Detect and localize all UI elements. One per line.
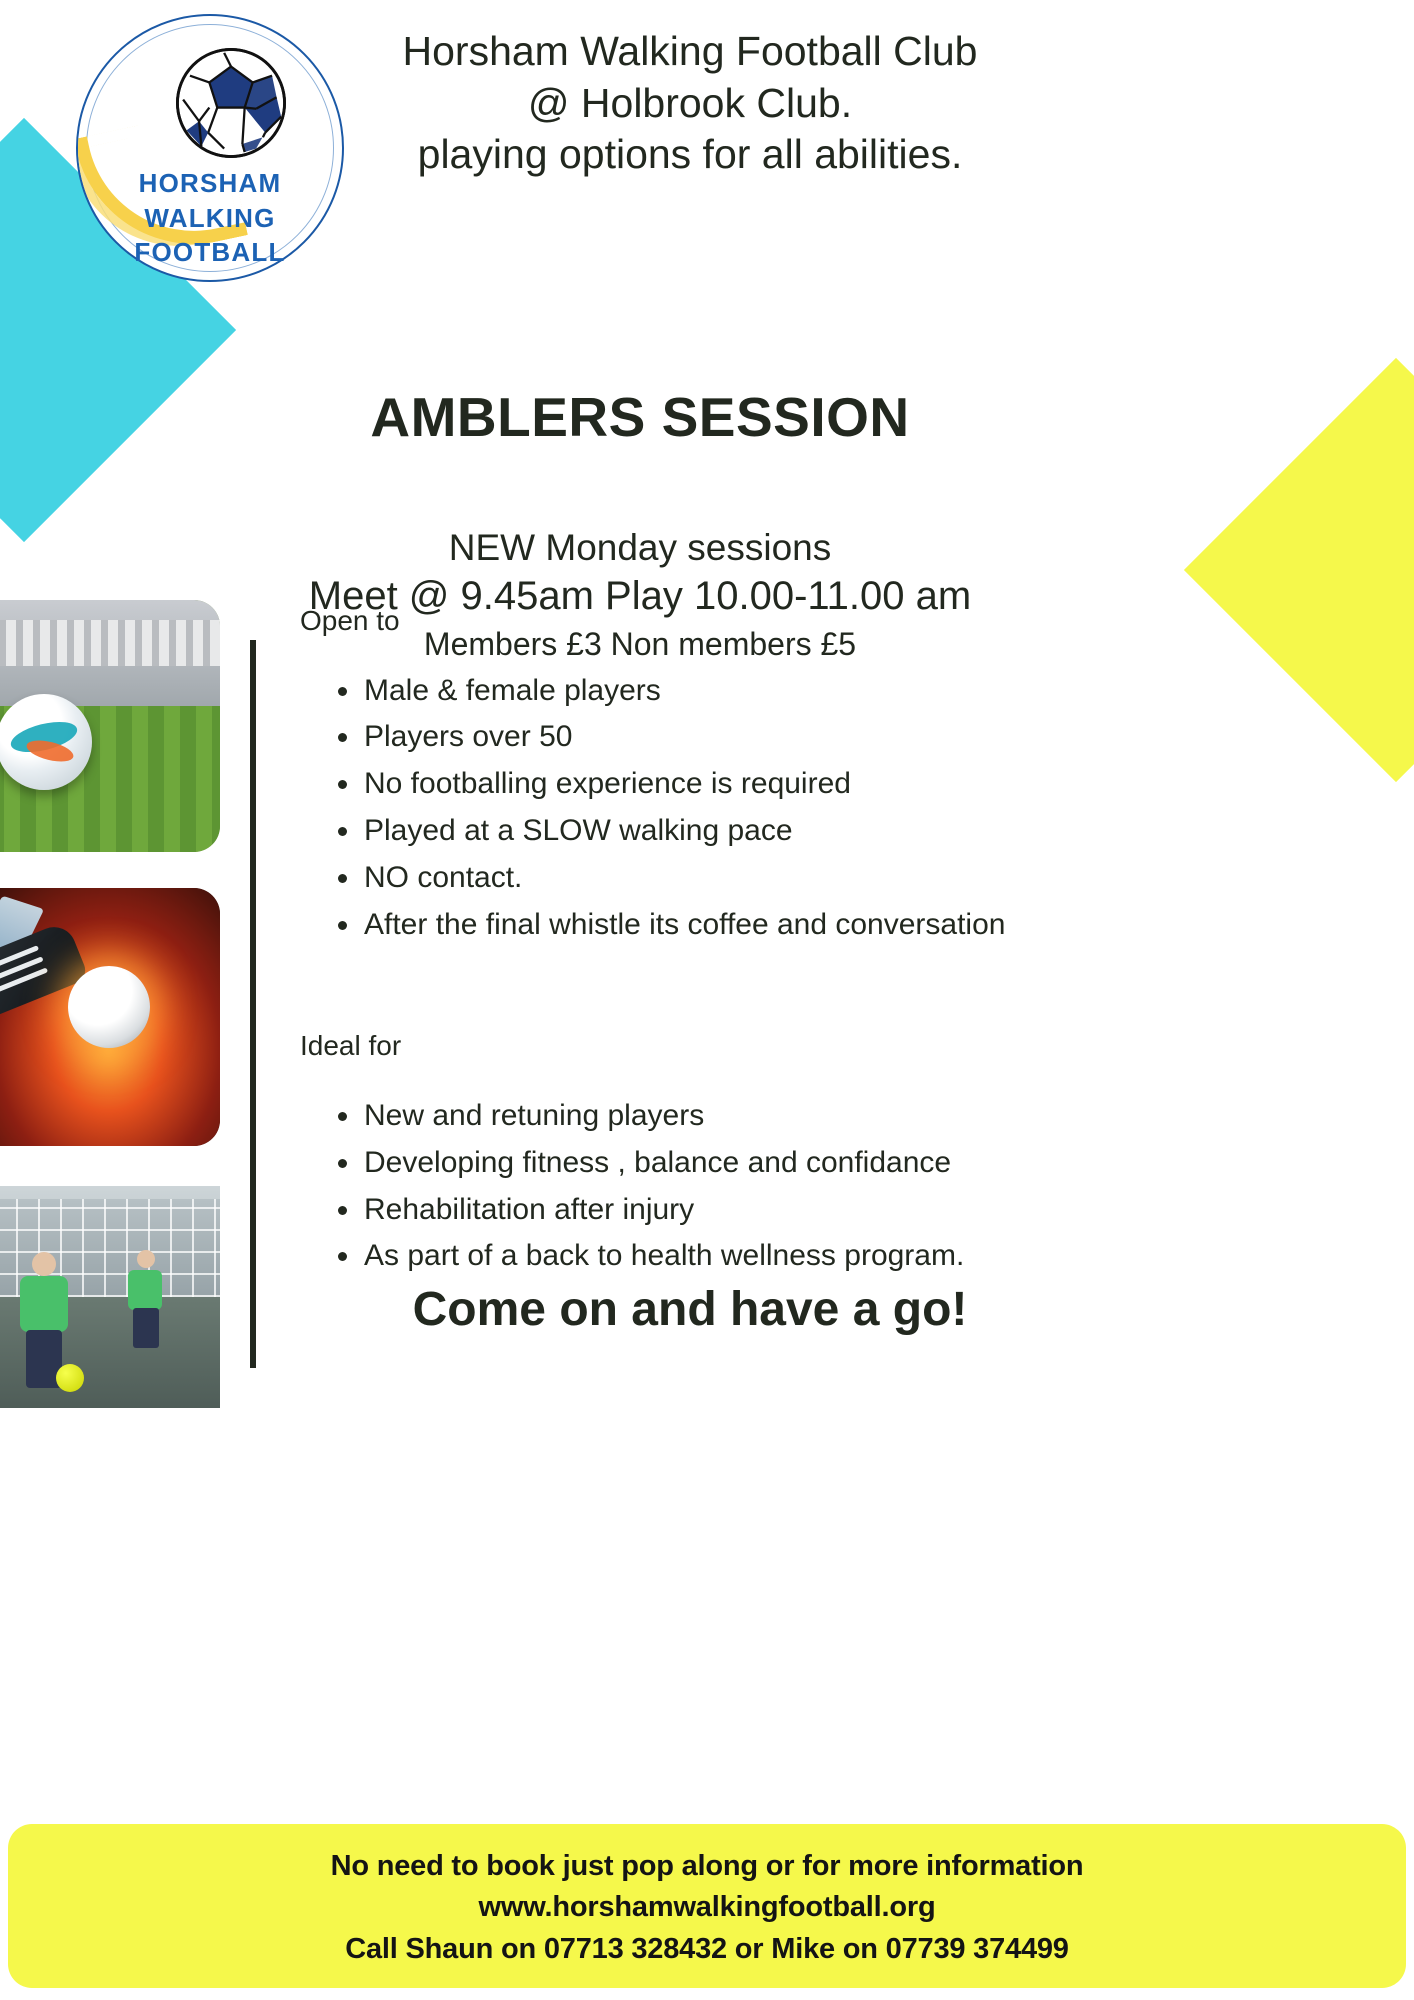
photo-boot-striking-ball	[0, 888, 220, 1146]
logo-line-2: WALKING	[76, 201, 344, 236]
soccer-ball-icon	[174, 46, 288, 160]
contact-banner: No need to book just pop along or for mo…	[8, 1824, 1406, 1988]
ideal-for-label: Ideal for	[300, 1029, 1080, 1063]
poster-body: Open to Male & female players Players ov…	[300, 604, 1080, 1284]
vertical-divider	[250, 640, 256, 1368]
logo-wordmark: HORSHAM WALKING FOOTBALL	[76, 166, 344, 270]
header-line-3: playing options for all abilities.	[330, 129, 1050, 181]
yellow-diamond-decoration	[1184, 358, 1414, 782]
list-item: New and retuning players	[320, 1097, 1080, 1135]
open-to-list: Male & female players Players over 50 No…	[320, 672, 1080, 944]
list-item: Developing fitness , balance and confida…	[320, 1144, 1080, 1182]
footer-website[interactable]: www.horshamwalkingfootball.org	[479, 1887, 936, 1928]
footer-line-1: No need to book just pop along or for mo…	[331, 1846, 1084, 1887]
logo-line-1: HORSHAM	[76, 166, 344, 201]
list-item: NO contact.	[320, 859, 1080, 897]
logo-line-3: FOOTBALL	[76, 235, 344, 270]
list-item: As part of a back to health wellness pro…	[320, 1237, 1080, 1275]
list-item: Players over 50	[320, 718, 1080, 756]
list-item: After the final whistle its coffee and c…	[320, 906, 1080, 944]
list-item: Rehabilitation after injury	[320, 1191, 1080, 1229]
header-line-2: @ Holbrook Club.	[330, 78, 1050, 130]
open-to-label: Open to	[300, 604, 1080, 638]
header-line-1: Horsham Walking Football Club	[330, 26, 1050, 78]
list-item: No footballing experience is required	[320, 765, 1080, 803]
call-to-action-text: Come on and have a go!	[300, 1282, 1080, 1337]
footer-phone-numbers: Call Shaun on 07713 328432 or Mike on 07…	[345, 1929, 1068, 1970]
poster-header: Horsham Walking Football Club @ Holbrook…	[330, 26, 1050, 181]
ideal-for-list: New and retuning players Developing fitn…	[320, 1097, 1080, 1275]
page-title: AMBLERS SESSION	[170, 385, 1110, 449]
list-item: Male & female players	[320, 672, 1080, 710]
club-logo: HORSHAM WALKING FOOTBALL	[76, 14, 344, 282]
session-line-1: NEW Monday sessions	[170, 525, 1110, 570]
photo-players-on-pitch	[0, 1186, 220, 1408]
list-item: Played at a SLOW walking pace	[320, 812, 1080, 850]
